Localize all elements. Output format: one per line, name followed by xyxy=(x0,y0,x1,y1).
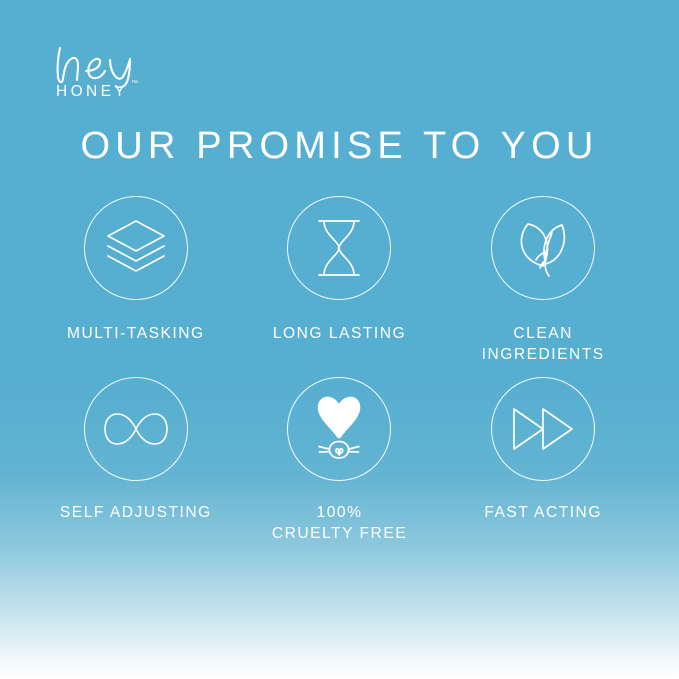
promise-item-cruelty-free: 100% CRUELTY FREE xyxy=(238,377,442,544)
leaves-icon xyxy=(512,216,574,280)
promise-label: SELF ADJUSTING xyxy=(60,503,212,524)
fast-forward-icon xyxy=(512,407,574,451)
promise-label: FAST ACTING xyxy=(484,503,602,524)
page-title: OUR PROMISE TO YOU xyxy=(0,126,679,168)
hourglass-icon xyxy=(313,217,365,279)
trademark-mark: ™ xyxy=(131,80,138,87)
promise-page: HONEY ™ OUR PROMISE TO YOU MULTI-TASKING xyxy=(0,0,679,679)
promise-item-multi-tasking: MULTI-TASKING xyxy=(34,196,238,365)
layers-icon xyxy=(104,217,168,279)
icon-circle xyxy=(491,196,595,300)
icon-circle xyxy=(84,377,188,481)
brand-logo: HONEY ™ xyxy=(54,44,184,106)
icon-circle xyxy=(491,377,595,481)
promise-grid: MULTI-TASKING LONG LASTING xyxy=(34,196,645,544)
promise-item-clean-ingredients: CLEAN INGREDIENTS xyxy=(441,196,645,365)
promise-label: 100% CRUELTY FREE xyxy=(272,503,407,544)
icon-circle xyxy=(84,196,188,300)
promise-label: MULTI-TASKING xyxy=(67,324,205,345)
bunny-heart-icon xyxy=(308,396,370,462)
promise-label: LONG LASTING xyxy=(273,324,406,345)
icon-circle xyxy=(287,196,391,300)
brand-wordmark: HONEY xyxy=(56,84,128,100)
promise-label: CLEAN INGREDIENTS xyxy=(482,324,605,365)
infinity-icon xyxy=(103,411,169,447)
icon-circle xyxy=(287,377,391,481)
promise-item-fast-acting: FAST ACTING xyxy=(441,377,645,544)
promise-item-long-lasting: LONG LASTING xyxy=(238,196,442,365)
promise-item-self-adjusting: SELF ADJUSTING xyxy=(34,377,238,544)
